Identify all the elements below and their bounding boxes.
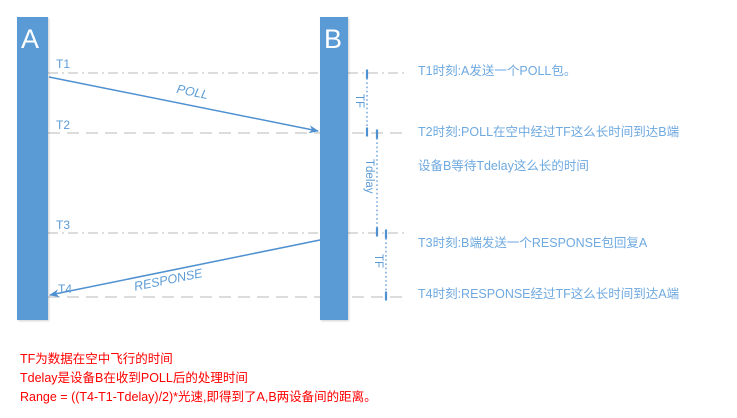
annotation-t4: T4时刻:RESPONSE经过TF这么长时间到达A端 (418, 288, 679, 302)
annotation-t1: T1时刻:A发送一个POLL包。 (418, 65, 576, 79)
node-bar-a[interactable] (17, 17, 48, 320)
tick-label-t1: T1 (56, 58, 70, 70)
annotation-t3: T3时刻:B端发送一个RESPONSE包回复A (418, 237, 647, 251)
interval-label-tdelay: Tdelay (363, 159, 375, 194)
interval-label-tf-bottom: TF (372, 254, 384, 268)
note-tf: TF为数据在空中飞行的时间 (20, 350, 173, 369)
node-label-a: A (21, 26, 39, 53)
note-tdelay: Tdelay是设备B在收到POLL后的处理时间 (20, 369, 248, 388)
tick-label-t4: T4 (58, 283, 72, 295)
note-range: Range = ((T4-T1-Tdelay)/2)*光速,即得到了A,B两设备… (20, 388, 377, 407)
response-arrow (50, 240, 320, 295)
message-arrows (49, 77, 320, 295)
interval-label-tf-top: TF (353, 94, 365, 108)
annotation-t2: T2时刻:POLL在空中经过TF这么长时间到达B端 (418, 126, 679, 140)
node-bar-b[interactable] (320, 17, 348, 320)
annotation-tdelay: 设备B等待Tdelay这么长的时间 (418, 160, 589, 174)
tick-label-t2: T2 (56, 119, 70, 131)
tick-label-t3: T3 (56, 219, 70, 231)
node-label-b: B (324, 26, 342, 53)
